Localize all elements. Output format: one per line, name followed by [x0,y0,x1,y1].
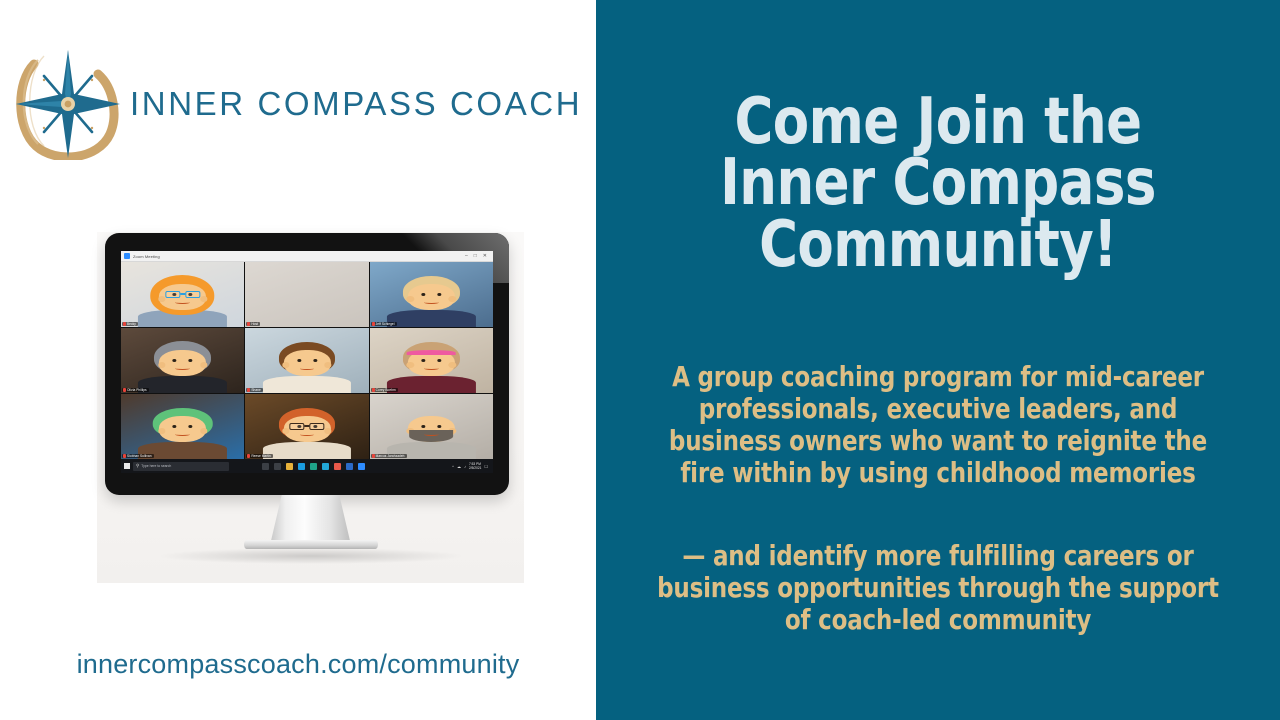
website-url[interactable]: innercompasscoach.com/community [0,649,596,680]
avatar-eye [421,293,425,296]
search-placeholder-text: Type here to search [141,464,171,468]
system-tray: ^ ☁ ♪ 7:53 PM 2/5/2021 ☐ [452,462,490,470]
file-explorer-icon[interactable] [286,463,293,470]
windows-start-icon[interactable] [124,463,130,469]
participant-name: Reese Martin [251,454,271,458]
participant-tile[interactable]: Siobhan Sullivan [121,394,244,459]
close-button[interactable]: ✕ [483,254,487,259]
avatar-eye [421,425,425,428]
participant-avatar [121,262,244,327]
participant-avatar [121,328,244,393]
avatar-shoulders [263,376,352,393]
participant-name-tag: Corey Boehm [371,388,398,392]
microphone-muted-icon [123,454,126,458]
participant-tile[interactable]: Olivia Phillips [121,328,244,393]
avatar-face [159,350,206,376]
taskbar-clock[interactable]: 7:53 PM 2/5/2021 [469,462,481,470]
participant-name-tag: Olivia Phillips [122,388,149,392]
avatar-glasses [165,291,180,298]
avatar-face [159,416,206,442]
description-paragraph-1: A group coaching program for mid-career … [644,362,1232,490]
maximize-button[interactable]: □ [474,254,477,259]
avatar-eye [437,293,441,296]
brand-logo: INNER COMPASS COACH [14,48,582,160]
edge-icon[interactable] [298,463,305,470]
task-view-icon[interactable] [274,463,281,470]
desktop-monitor: Zoom Meeting – □ ✕ BeckyHostJeff Schlege… [105,233,509,495]
participant-name-tag: Marcus Jarahzadeh [371,454,407,458]
microphone-muted-icon [372,322,375,326]
avatar-shoulders [387,376,476,393]
participant-tile[interactable]: Marcus Jarahzadeh [370,394,493,459]
avatar-eye [173,359,177,362]
microphone-muted-icon [247,388,250,392]
avatar-glasses [290,423,305,430]
participant-tile[interactable]: Host [245,262,368,327]
participant-name-tag: Shane [246,388,262,392]
chrome-icon[interactable] [334,463,341,470]
microphone-muted-icon [372,454,375,458]
participant-avatar [121,394,244,459]
monitor-stand-neck [271,495,351,543]
microphone-muted-icon [123,322,126,326]
avatar-eye [421,359,425,362]
brand-wordmark: INNER COMPASS COACH [130,85,582,123]
avatar-eye [189,359,193,362]
avatar-shoulders [263,442,352,459]
participant-name-tag: Host [246,322,260,326]
avatar-eye [173,425,177,428]
microphone-muted-icon [247,454,250,458]
poster-canvas: INNER COMPASS COACH Zoom Meeting – □ ✕ [0,0,1280,720]
avatar-eye [437,425,441,428]
participant-avatar [245,394,368,459]
avatar-eye [189,425,193,428]
participant-name: Olivia Phillips [127,388,147,392]
participant-name: Jeff Schlegel [376,322,395,326]
participant-name-tag: Siobhan Sullivan [122,454,154,458]
zoom-window-titlebar: Zoom Meeting – □ ✕ [121,251,493,262]
monitor-stage: Zoom Meeting – □ ✕ BeckyHostJeff Schlege… [97,232,524,583]
tray-expand-icon[interactable]: ^ [452,464,454,469]
windows-taskbar: ⚲ Type here to search ^ ☁ ♪ 7:53 PM 2/ [121,459,493,473]
participant-name-tag: Jeff Schlegel [371,322,397,326]
participant-video-background [245,262,368,327]
right-panel: Come Join the Inner Compass Community! A… [596,0,1280,720]
avatar-glasses [309,423,324,430]
avatar-shoulders [387,310,476,327]
microphone-muted-icon [372,388,375,392]
notifications-icon[interactable]: ☐ [484,464,488,469]
participant-name-tag: Becky [122,322,138,326]
participant-tile[interactable]: Corey Boehm [370,328,493,393]
monitor-screen: Zoom Meeting – □ ✕ BeckyHostJeff Schlege… [121,251,493,473]
monitor-bezel: Zoom Meeting – □ ✕ BeckyHostJeff Schlege… [105,233,509,495]
participant-tile[interactable]: Jeff Schlegel [370,262,493,327]
participant-name: Host [251,322,258,326]
minimize-button[interactable]: – [465,254,468,259]
participant-name: Becky [127,322,136,326]
store-icon[interactable] [310,463,317,470]
zoom-app-icon[interactable] [358,463,365,470]
avatar-ear [200,428,207,434]
zoom-video-grid: BeckyHostJeff SchlegelOlivia PhillipsSha… [121,262,493,459]
avatar-face [284,350,331,376]
compass-rose-icon [14,48,122,160]
participant-name-tag: Reese Martin [246,454,273,458]
cortana-icon[interactable] [262,463,269,470]
taskbar-pinned-icons [262,463,365,470]
avatar-glasses-bridge [305,425,310,426]
avatar-eye [297,359,301,362]
description-paragraph-2: — and identify more fulfilling careers o… [644,541,1232,637]
search-input[interactable]: ⚲ Type here to search [133,462,229,471]
search-icon: ⚲ [136,463,139,469]
avatar-glasses-bridge [180,293,185,294]
avatar-eye [437,359,441,362]
left-panel: INNER COMPASS COACH Zoom Meeting – □ ✕ [0,0,596,720]
window-controls: – □ ✕ [465,254,490,259]
avatar-eye [313,359,317,362]
participant-name: Marcus Jarahzadeh [376,454,405,458]
participant-name: Siobhan Sullivan [127,454,152,458]
avatar-glasses [185,291,200,298]
participant-avatar [370,262,493,327]
mail-icon[interactable] [322,463,329,470]
network-icon[interactable]: ☁ [457,464,461,469]
microphone-muted-icon [123,388,126,392]
volume-icon[interactable]: ♪ [464,464,466,469]
participant-avatar [370,394,493,459]
page-title: Come Join the Inner Compass Community! [649,92,1227,276]
monitor-shadow [161,548,461,564]
zoom-window-title: Zoom Meeting [133,254,160,259]
participant-name: Corey Boehm [376,388,396,392]
participant-name: Shane [251,388,260,392]
zoom-icon [124,253,130,259]
participant-tile[interactable]: Shane [245,328,368,393]
participant-tile[interactable]: Reese Martin [245,394,368,459]
avatar-face [408,284,455,310]
clock-date: 2/5/2021 [469,466,481,470]
participant-tile[interactable]: Becky [121,262,244,327]
outlook-icon[interactable] [346,463,353,470]
participant-avatar [370,328,493,393]
participant-avatar [245,328,368,393]
avatar-headband [407,350,456,355]
avatar-shoulders [138,376,227,393]
microphone-muted-icon [247,322,250,326]
